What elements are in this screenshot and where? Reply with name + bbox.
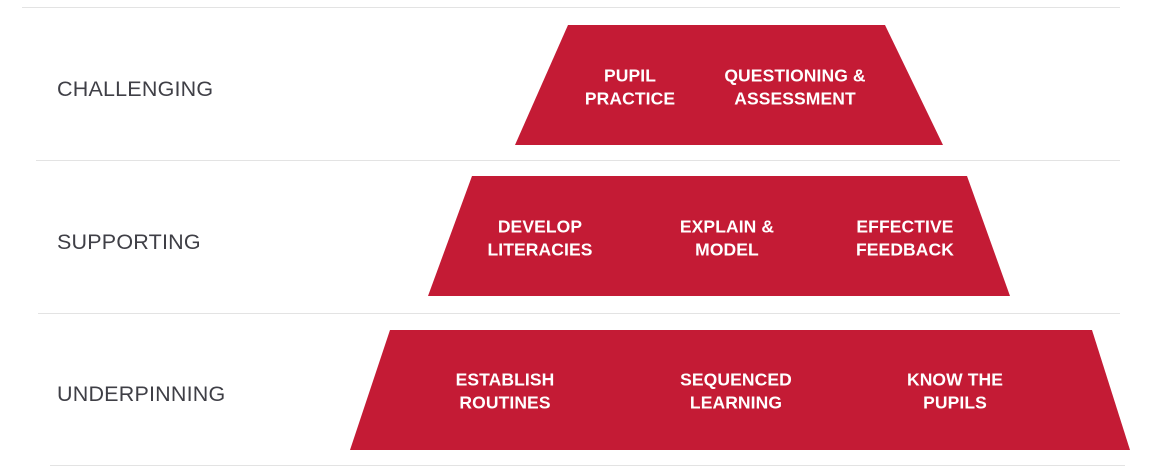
divider-line-top bbox=[22, 7, 1120, 8]
tier-label-challenging: CHALLENGING bbox=[57, 77, 213, 102]
pyramid-cell-pupil-practice: PUPIL PRACTICE bbox=[585, 65, 675, 112]
pyramid-cell-effective-feedback: EFFECTIVE FEEDBACK bbox=[856, 216, 954, 263]
pyramid-cell-explain-model: EXPLAIN & MODEL bbox=[680, 216, 774, 263]
divider-line-1 bbox=[36, 160, 1120, 161]
tier-label-underpinning: UNDERPINNING bbox=[57, 382, 225, 407]
tier-label-supporting: SUPPORTING bbox=[57, 230, 201, 255]
divider-line-2 bbox=[38, 313, 1120, 314]
pyramid-diagram: CHALLENGING SUPPORTING UNDERPINNING PUPI… bbox=[0, 0, 1157, 474]
pyramid-cell-establish-routines: ESTABLISH ROUTINES bbox=[456, 369, 555, 416]
pyramid-cell-questioning-assessment: QUESTIONING & ASSESSMENT bbox=[724, 65, 865, 112]
pyramid-cell-develop-literacies: DEVELOP LITERACIES bbox=[487, 216, 592, 263]
divider-line-bottom bbox=[50, 465, 1125, 466]
pyramid-cell-know-the-pupils: KNOW THE PUPILS bbox=[907, 369, 1003, 416]
pyramid-cell-sequenced-learning: SEQUENCED LEARNING bbox=[680, 369, 792, 416]
